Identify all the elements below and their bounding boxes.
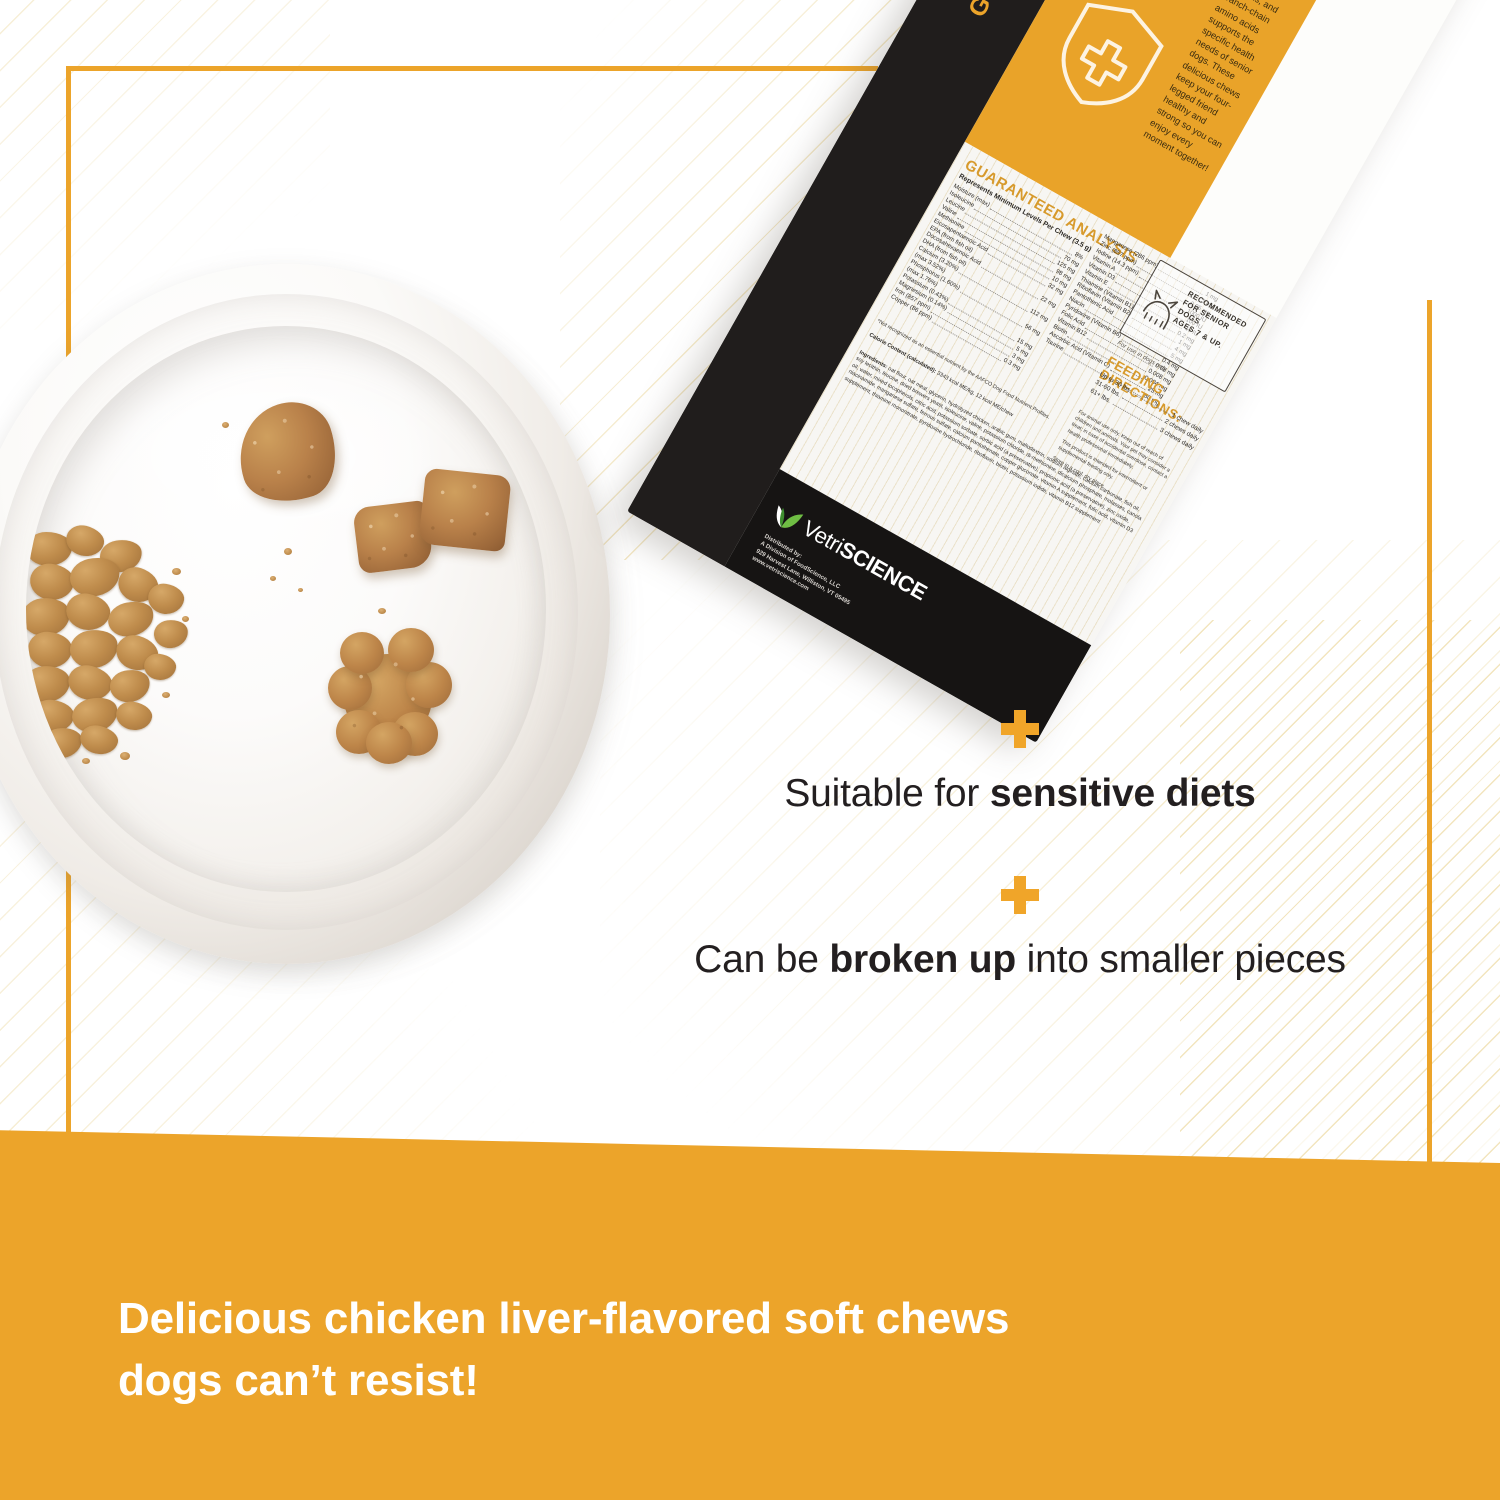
stray-crumb bbox=[222, 422, 229, 428]
paw-shaped-soft-chew bbox=[314, 628, 460, 766]
bullet-2-prefix: Can be bbox=[694, 938, 829, 981]
frame-line-top bbox=[66, 66, 878, 71]
plus-icon bbox=[1001, 876, 1039, 914]
feature-bullet-1: Suitable for sensitive diets bbox=[660, 710, 1380, 818]
plus-icon bbox=[1001, 710, 1039, 748]
shield-plus-icon bbox=[1038, 0, 1177, 129]
stray-crumb bbox=[284, 548, 292, 555]
banner-headline-line2: dogs can’t resist! bbox=[118, 1350, 1238, 1412]
banner-headline: Delicious chicken liver-flavored soft ch… bbox=[118, 1288, 1238, 1413]
feature-bullet-2-text: Can be broken up into smaller pieces bbox=[660, 936, 1380, 984]
feature-bullets: Suitable for sensitive diets Can be brok… bbox=[660, 710, 1380, 985]
package-body-copy: Don’t let the aging process slow down yo… bbox=[1141, 0, 1376, 176]
feature-bullet-2: Can be broken up into smaller pieces bbox=[660, 876, 1380, 984]
dog-bowl-photo bbox=[0, 250, 660, 1020]
frame-line-right bbox=[1427, 300, 1432, 1190]
crumbled-chew-pile bbox=[26, 524, 264, 788]
stray-crumb bbox=[298, 588, 303, 592]
bullet-1-strong: sensitive diets bbox=[990, 772, 1256, 815]
bullet-spacer bbox=[660, 818, 1380, 876]
leaf-logo-icon bbox=[768, 498, 806, 536]
bullet-1-prefix: Suitable for bbox=[784, 772, 990, 815]
bullet-2-strong: broken up bbox=[829, 938, 1016, 981]
chew-cube bbox=[418, 468, 511, 553]
product-package: GOLDEN YEARS Help Your Senior Feel Forev… bbox=[627, 0, 1499, 743]
banner-headline-line1: Delicious chicken liver-flavored soft ch… bbox=[118, 1288, 1238, 1350]
stray-crumb bbox=[378, 608, 386, 614]
bullet-2-suffix: into smaller pieces bbox=[1016, 938, 1346, 981]
feature-bullet-1-text: Suitable for sensitive diets bbox=[660, 770, 1380, 818]
bowl-interior bbox=[26, 326, 546, 892]
stray-crumb bbox=[270, 576, 276, 581]
marketing-image-canvas: GOLDEN YEARS Help Your Senior Feel Forev… bbox=[0, 0, 1500, 1500]
